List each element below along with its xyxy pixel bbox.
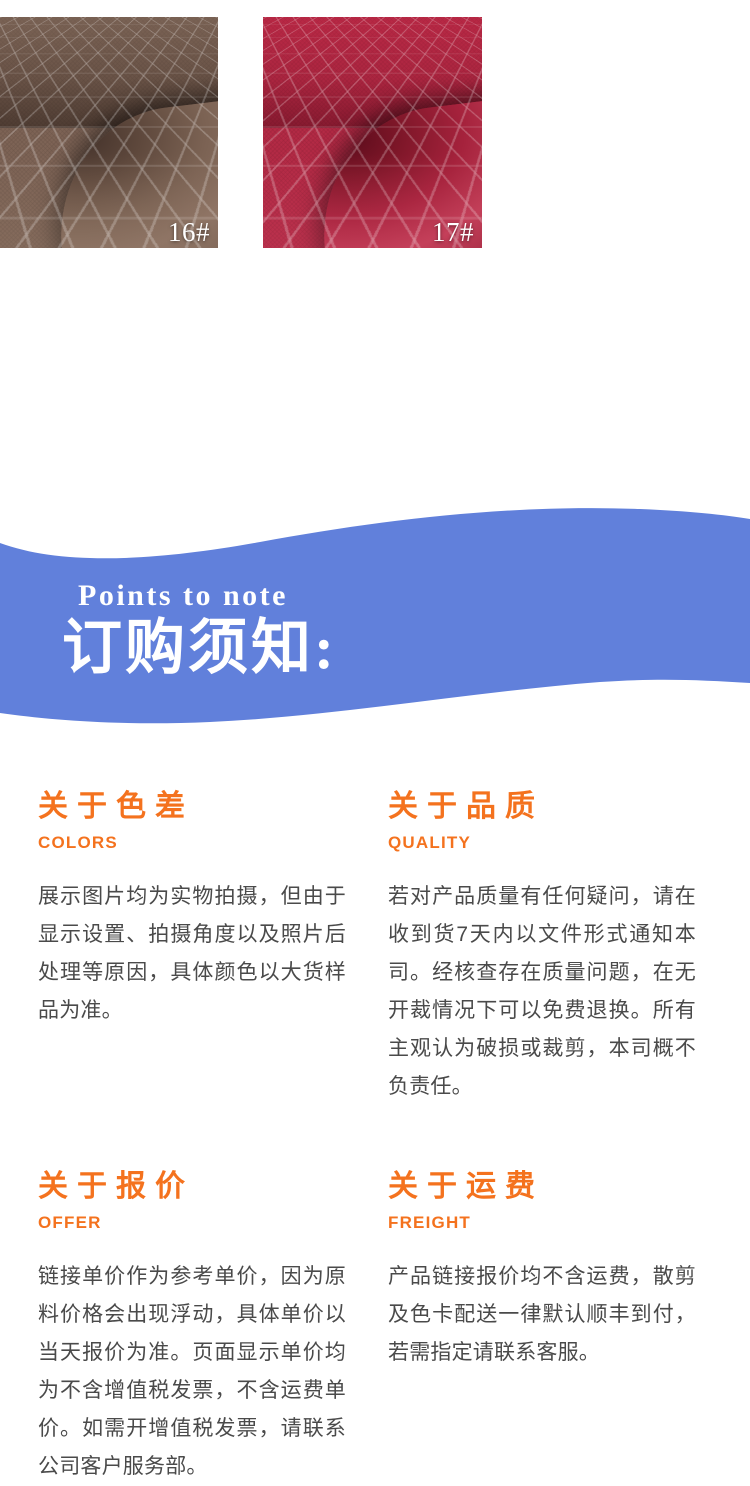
note-body: 展示图片均为实物拍摄，但由于显示设置、拍摄角度以及照片后处理等原因，具体颜色以大… <box>38 878 346 1030</box>
product-swatch-gallery: 16# 17# <box>0 0 750 260</box>
note-card-freight: 关于运费 FREIGHT 产品链接报价均不含运费，散剪及色卡配送一律默认顺丰到付… <box>388 1170 708 1372</box>
note-card-quality: 关于品质 QUALITY 若对产品质量有任何疑问，请在收到货7天内以文件形式通知… <box>388 790 708 1106</box>
swatch-label: 17# <box>432 219 474 246</box>
note-heading-en: FREIGHT <box>388 1214 708 1231</box>
note-body: 若对产品质量有任何疑问，请在收到货7天内以文件形式通知本司。经核查存在质量问题，… <box>388 878 696 1106</box>
note-heading-en: QUALITY <box>388 834 708 851</box>
note-card-offer: 关于报价 OFFER 链接单价作为参考单价，因为原料价格会出现浮动，具体单价以当… <box>38 1170 358 1486</box>
note-body: 链接单价作为参考单价，因为原料价格会出现浮动，具体单价以当天报价为准。页面显示单… <box>38 1258 346 1486</box>
note-heading-cn: 关于运费 <box>388 1170 708 1203</box>
note-heading-cn: 关于品质 <box>388 790 708 823</box>
note-card-colors: 关于色差 COLORS 展示图片均为实物拍摄，但由于显示设置、拍摄角度以及照片后… <box>38 790 358 1030</box>
banner-text-block: Points to note 订购须知: <box>0 480 750 740</box>
note-heading-cn: 关于色差 <box>38 790 358 823</box>
banner-subtitle: Points to note <box>78 581 288 611</box>
fabric-swatch-16[interactable]: 16# <box>0 17 218 248</box>
fabric-swatch-17[interactable]: 17# <box>263 17 482 248</box>
banner-title: 订购须知: <box>62 617 337 680</box>
fabric-swatch-17-photo <box>263 17 482 248</box>
swatch-label: 16# <box>168 219 210 246</box>
note-heading-en: COLORS <box>38 834 358 851</box>
note-body: 产品链接报价均不含运费，散剪及色卡配送一律默认顺丰到付，若需指定请联系客服。 <box>388 1258 696 1372</box>
fabric-swatch-16-photo <box>0 17 218 248</box>
note-heading-cn: 关于报价 <box>38 1170 358 1203</box>
points-to-note-banner: Points to note 订购须知: <box>0 480 750 740</box>
note-heading-en: OFFER <box>38 1214 358 1231</box>
